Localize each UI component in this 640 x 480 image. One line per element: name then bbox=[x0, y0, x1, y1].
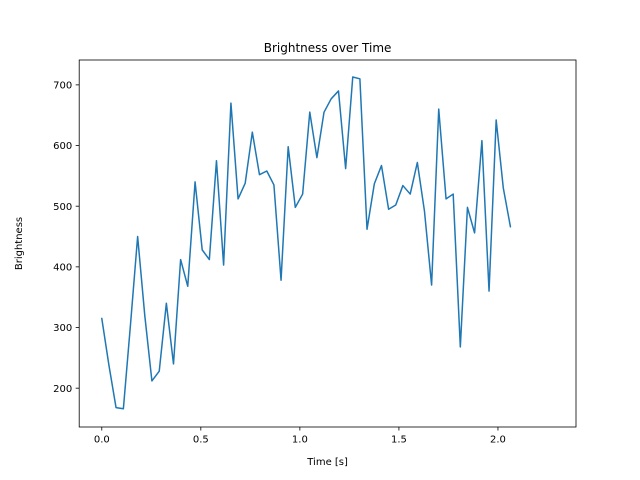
axes-background bbox=[79, 60, 576, 427]
y-tick-label: 700 bbox=[53, 80, 72, 91]
x-tick-label: 0.0 bbox=[94, 435, 110, 446]
y-tick-label: 200 bbox=[53, 384, 72, 395]
x-tick-label: 0.5 bbox=[193, 435, 209, 446]
x-tick-label: 2.0 bbox=[490, 435, 506, 446]
chart-title: Brightness over Time bbox=[264, 41, 392, 55]
y-tick-label: 400 bbox=[53, 262, 72, 273]
y-tick-label: 600 bbox=[53, 141, 72, 152]
x-tick-label: 1.0 bbox=[292, 435, 308, 446]
y-tick-label: 500 bbox=[53, 202, 72, 213]
y-tick-label: 300 bbox=[53, 323, 72, 334]
brightness-over-time-chart: 0.00.51.01.52.0 200300400500600700 Brigh… bbox=[0, 0, 640, 480]
y-axis-label: Brightness bbox=[14, 217, 25, 270]
figure-canvas: 0.00.51.01.52.0 200300400500600700 Brigh… bbox=[0, 0, 640, 480]
x-axis-label: Time [s] bbox=[306, 457, 348, 468]
x-tick-label: 1.5 bbox=[391, 435, 407, 446]
